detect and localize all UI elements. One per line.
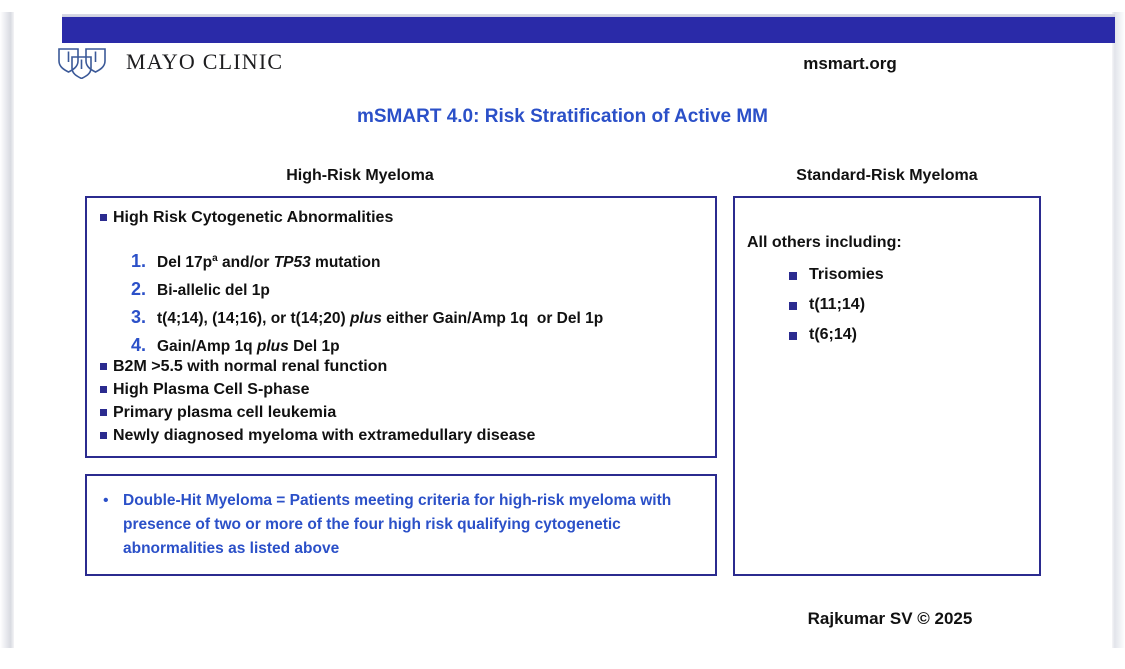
- mayo-clinic-wordmark: MAYO CLINIC: [126, 49, 283, 75]
- column-header-standard-risk: Standard-Risk Myeloma: [733, 167, 1041, 185]
- double-hit-text: Double-Hit Myeloma = Patients meeting cr…: [123, 489, 697, 561]
- standard-risk-item-1: Trisomies: [787, 260, 884, 290]
- high-risk-numbered-list: 1.Del 17pa and/or TP53 mutation2.Bi-alle…: [131, 246, 603, 360]
- double-hit-row: • Double-Hit Myeloma = Patients meeting …: [103, 489, 697, 561]
- high-risk-heading-list: High Risk Cytogenetic Abnormalities: [99, 206, 393, 229]
- standard-risk-lead: All others including:: [747, 234, 902, 252]
- high-risk-bullet-4: Newly diagnosed myeloma with extramedull…: [99, 424, 535, 447]
- standard-risk-box: All others including: Trisomiest(11;14)t…: [733, 196, 1041, 576]
- round-bullet-icon: •: [103, 489, 123, 561]
- list-text: t(4;14), (14;16), or t(14;20) plus eithe…: [157, 306, 603, 332]
- high-risk-bullet-2: High Plasma Cell S-phase: [99, 378, 535, 401]
- list-number: 1.: [131, 248, 157, 274]
- slide-canvas: MAYO CLINIC msmart.org mSMART 4.0: Risk …: [0, 0, 1125, 669]
- standard-risk-item-3: t(6;14): [787, 320, 884, 350]
- double-hit-box: • Double-Hit Myeloma = Patients meeting …: [85, 474, 717, 576]
- high-risk-bullet-3: Primary plasma cell leukemia: [99, 401, 535, 424]
- high-risk-item-1: 1.Del 17pa and/or TP53 mutation: [131, 246, 603, 276]
- top-accent-bar: [62, 17, 1115, 43]
- list-text: Bi-allelic del 1p: [157, 278, 270, 304]
- high-risk-bullet-1: B2M >5.5 with normal renal function: [99, 355, 535, 378]
- mayo-clinic-logo: MAYO CLINIC: [56, 44, 286, 80]
- high-risk-box: High Risk Cytogenetic Abnormalities 1.De…: [85, 196, 717, 458]
- standard-risk-item-2: t(11;14): [787, 290, 884, 320]
- list-number: 2.: [131, 276, 157, 302]
- site-url: msmart.org: [700, 54, 1000, 74]
- page-title: mSMART 4.0: Risk Stratification of Activ…: [0, 106, 1125, 128]
- list-number: 3.: [131, 304, 157, 330]
- footer-credit: Rajkumar SV © 2025: [740, 609, 1040, 629]
- standard-risk-list: Trisomiest(11;14)t(6;14): [787, 260, 884, 350]
- high-risk-item-3: 3.t(4;14), (14;16), or t(14;20) plus eit…: [131, 304, 603, 332]
- high-risk-heading: High Risk Cytogenetic Abnormalities: [99, 206, 393, 229]
- high-risk-item-2: 2.Bi-allelic del 1p: [131, 276, 603, 304]
- list-text: Del 17pa and/or TP53 mutation: [157, 246, 381, 276]
- mayo-clinic-shields-icon: [56, 45, 116, 79]
- high-risk-bullet-list: B2M >5.5 with normal renal functionHigh …: [99, 355, 535, 447]
- column-header-high-risk: High-Risk Myeloma: [150, 167, 570, 185]
